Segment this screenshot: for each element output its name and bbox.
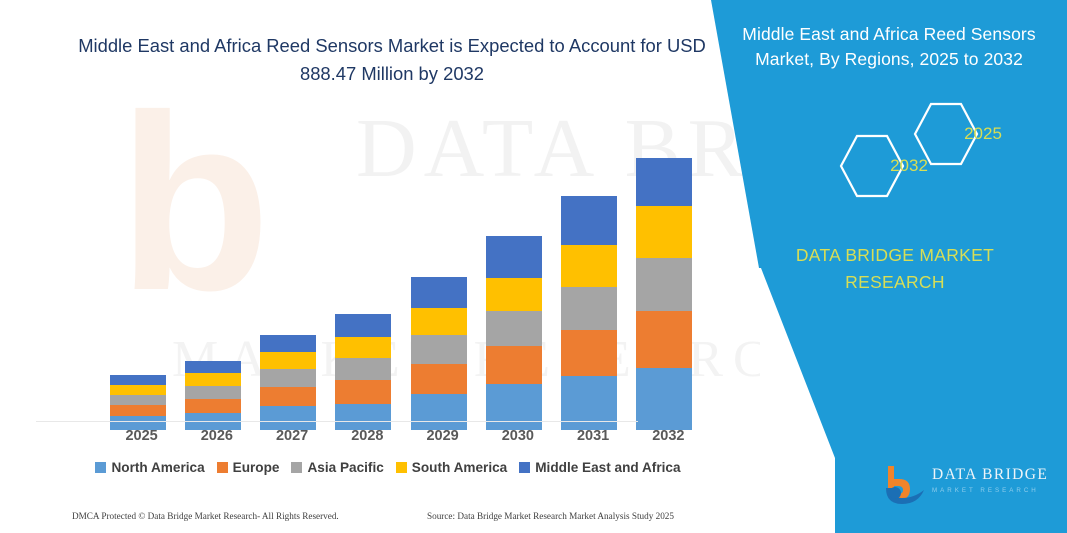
bar-segment-europe[interactable] <box>260 387 316 406</box>
hexagon-label-2025: 2025 <box>883 124 1067 144</box>
hexagon-outlines-icon <box>835 96 1035 208</box>
bar-segment-south-america[interactable] <box>260 352 316 369</box>
bar-segment-europe[interactable] <box>411 364 467 394</box>
footer: DMCA Protected © Data Bridge Market Rese… <box>0 508 712 530</box>
brand-name: DATA BRIDGE MARKET RESEARCH <box>745 242 1045 296</box>
bar-segment-north-america[interactable] <box>260 406 316 430</box>
bar-segment-south-america[interactable] <box>486 278 542 311</box>
brand-line2: RESEARCH <box>745 269 1045 296</box>
bar-segment-europe[interactable] <box>185 399 241 413</box>
hexagon-label-2032: 2032 <box>809 156 1009 176</box>
legend-label: Asia Pacific <box>307 460 383 475</box>
data-bridge-b-logo-icon <box>884 462 930 506</box>
legend-swatch-icon <box>217 462 228 473</box>
bar-segment-europe[interactable] <box>335 380 391 404</box>
legend-label: South America <box>412 460 507 475</box>
stacked-bar-chart <box>68 120 708 430</box>
infographic-canvas: b DATA BRIDGE MARKET RESEARCH Middle Eas… <box>0 0 1067 533</box>
bar-segment-asia-pacific[interactable] <box>335 358 391 380</box>
legend-label: North America <box>111 460 204 475</box>
logo-subtitle: MARKET RESEARCH <box>932 487 1048 494</box>
bar-segment-asia-pacific[interactable] <box>411 335 467 364</box>
legend-item-europe[interactable]: Europe <box>217 460 280 475</box>
legend-swatch-icon <box>519 462 530 473</box>
bar-segment-asia-pacific[interactable] <box>636 258 692 310</box>
brand-line1: DATA BRIDGE MARKET <box>745 242 1045 269</box>
footer-copyright: DMCA Protected © Data Bridge Market Rese… <box>72 511 339 521</box>
x-axis-label-2032: 2032 <box>633 428 703 444</box>
legend-item-south-america[interactable]: South America <box>396 460 507 475</box>
bar-segment-middle-east-and-africa[interactable] <box>561 196 617 245</box>
bar-segment-europe[interactable] <box>561 330 617 376</box>
legend-swatch-icon <box>396 462 407 473</box>
bar-segment-asia-pacific[interactable] <box>185 386 241 399</box>
bar-segment-south-america[interactable] <box>411 308 467 335</box>
bar-segment-south-america[interactable] <box>335 337 391 358</box>
bar-segment-middle-east-and-africa[interactable] <box>185 361 241 373</box>
bar-segment-middle-east-and-africa[interactable] <box>260 335 316 352</box>
x-axis-label-2028: 2028 <box>332 428 402 444</box>
page-title: Middle East and Africa Reed Sensors Mark… <box>68 32 716 87</box>
bar-segment-middle-east-and-africa[interactable] <box>636 158 692 206</box>
bar-column-2031[interactable] <box>561 196 617 430</box>
data-bridge-logo: DATA BRIDGE MARKET RESEARCH <box>884 462 1059 508</box>
legend-item-north-america[interactable]: North America <box>95 460 204 475</box>
bar-column-2027[interactable] <box>260 335 316 430</box>
legend-swatch-icon <box>291 462 302 473</box>
bar-segment-south-america[interactable] <box>110 385 166 395</box>
legend-label: Middle East and Africa <box>535 460 680 475</box>
bar-segment-europe[interactable] <box>486 346 542 384</box>
bar-segment-north-america[interactable] <box>486 384 542 430</box>
chart-legend: North AmericaEuropeAsia PacificSouth Ame… <box>68 455 708 479</box>
bar-segment-south-america[interactable] <box>185 373 241 386</box>
legend-item-middle-east-and-africa[interactable]: Middle East and Africa <box>519 460 680 475</box>
bar-column-2030[interactable] <box>486 236 542 430</box>
x-axis-label-2030: 2030 <box>483 428 553 444</box>
x-axis-label-2031: 2031 <box>558 428 628 444</box>
bar-segment-europe[interactable] <box>636 311 692 368</box>
bar-segment-south-america[interactable] <box>561 245 617 286</box>
bar-segment-north-america[interactable] <box>636 368 692 430</box>
x-axis-label-2026: 2026 <box>182 428 252 444</box>
bar-column-2032[interactable] <box>636 158 692 430</box>
bar-column-2028[interactable] <box>335 314 391 430</box>
bar-segment-north-america[interactable] <box>411 394 467 430</box>
x-axis-label-2025: 2025 <box>107 428 177 444</box>
hexagon-badges: 2032 2025 <box>835 96 1035 206</box>
bar-segment-asia-pacific[interactable] <box>486 311 542 346</box>
bar-segment-middle-east-and-africa[interactable] <box>335 314 391 337</box>
bar-segment-middle-east-and-africa[interactable] <box>486 236 542 277</box>
legend-swatch-icon <box>95 462 106 473</box>
bar-segment-north-america[interactable] <box>335 404 391 430</box>
footer-source: Source: Data Bridge Market Research Mark… <box>427 511 674 521</box>
bar-segment-south-america[interactable] <box>636 206 692 258</box>
chart-baseline <box>36 421 638 422</box>
legend-item-asia-pacific[interactable]: Asia Pacific <box>291 460 383 475</box>
bar-segment-middle-east-and-africa[interactable] <box>110 375 166 385</box>
logo-text-block: DATA BRIDGE MARKET RESEARCH <box>932 466 1048 494</box>
bar-column-2029[interactable] <box>411 277 467 430</box>
x-axis-labels: 20252026202720282029203020312032 <box>68 428 708 450</box>
bar-segment-asia-pacific[interactable] <box>110 395 166 405</box>
bar-segment-asia-pacific[interactable] <box>260 369 316 387</box>
bar-column-2026[interactable] <box>185 361 241 430</box>
side-panel-title: Middle East and Africa Reed Sensors Mark… <box>729 22 1049 73</box>
bar-segment-asia-pacific[interactable] <box>561 287 617 330</box>
bar-segment-europe[interactable] <box>110 405 166 416</box>
legend-label: Europe <box>233 460 280 475</box>
chart-plot-area <box>100 120 702 430</box>
x-axis-label-2027: 2027 <box>257 428 327 444</box>
logo-name: DATA BRIDGE <box>932 466 1048 484</box>
bar-segment-middle-east-and-africa[interactable] <box>411 277 467 308</box>
x-axis-label-2029: 2029 <box>408 428 478 444</box>
